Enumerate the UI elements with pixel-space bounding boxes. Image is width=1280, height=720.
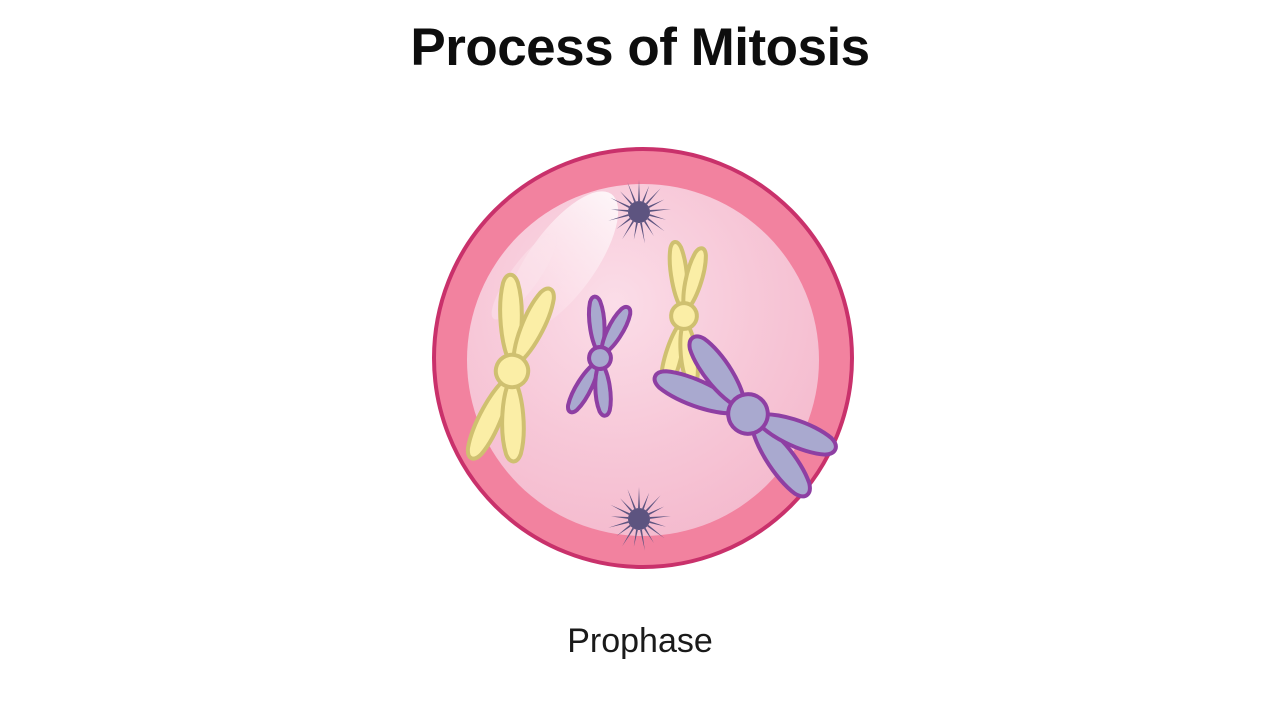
centromere <box>670 302 697 329</box>
illustration-canvas: Process of Mitosis Prophase <box>0 0 1280 720</box>
page-title: Process of Mitosis <box>0 18 1280 78</box>
centrosome-bottom-core <box>628 508 650 530</box>
centrosome-top-core <box>628 201 650 223</box>
phase-caption: Prophase <box>0 620 1280 662</box>
centromere <box>587 345 613 371</box>
cell-diagram-svg <box>410 140 880 580</box>
mitosis-diagram <box>410 140 880 580</box>
